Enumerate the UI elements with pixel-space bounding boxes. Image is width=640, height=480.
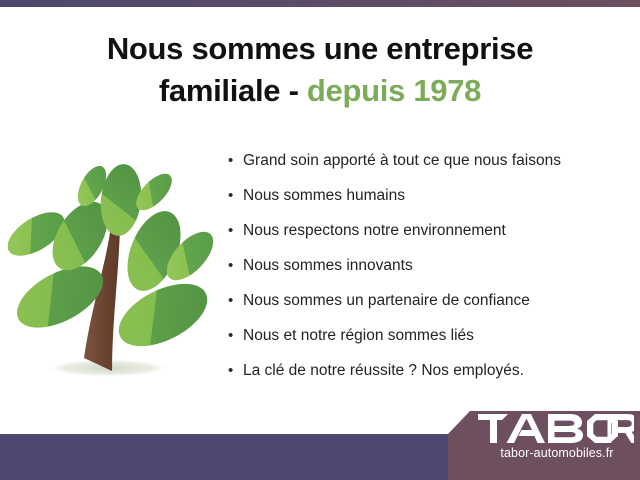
list-item-label: Nous respectons notre environnement	[243, 220, 506, 242]
title-line-2: familiale - depuis 1978	[0, 70, 640, 112]
list-item-label: Nous et notre région sommes liés	[243, 325, 474, 347]
list-item: • Nous sommes innovants	[228, 255, 628, 290]
value-bullet-list: • Grand soin apporté à tout ce que nous …	[228, 150, 628, 395]
list-item: • La clé de notre réussite ? Nos employé…	[228, 360, 628, 395]
list-item: • Nous sommes un partenaire de confiance	[228, 290, 628, 325]
bullet-point-icon: •	[228, 220, 243, 242]
list-item: • Nous sommes humains	[228, 185, 628, 220]
list-item-label: Nous sommes innovants	[243, 255, 413, 277]
bullet-point-icon: •	[228, 290, 243, 312]
list-item-label: Grand soin apporté à tout ce que nous fa…	[243, 150, 561, 172]
brand-logo[interactable]: tabor-automobiles.fr	[478, 414, 638, 470]
list-item-label: La clé de notre réussite ? Nos employés.	[243, 360, 524, 382]
brand-website-label: tabor-automobiles.fr	[478, 446, 636, 461]
title-line-2-plain: familiale -	[159, 73, 307, 108]
list-item: • Nous et notre région sommes liés	[228, 325, 628, 360]
list-item-label: Nous sommes un partenaire de confiance	[243, 290, 530, 312]
list-item: • Grand soin apporté à tout ce que nous …	[228, 150, 628, 185]
bullet-point-icon: •	[228, 255, 243, 277]
slide-canvas: Nous sommes une entreprise familiale - d…	[0, 0, 640, 480]
bullet-point-icon: •	[228, 325, 243, 347]
list-item: • Nous respectons notre environnement	[228, 220, 628, 255]
title-accent-year: depuis 1978	[307, 73, 481, 108]
top-accent-strip	[0, 0, 640, 7]
page-title: Nous sommes une entreprise familiale - d…	[0, 28, 640, 112]
bullet-point-icon: •	[228, 185, 243, 207]
bullet-point-icon: •	[228, 150, 243, 172]
tabor-wordmark-icon	[478, 414, 634, 444]
list-item-label: Nous sommes humains	[243, 185, 405, 207]
tree-icon	[8, 152, 223, 390]
bullet-point-icon: •	[228, 360, 243, 382]
title-line-1: Nous sommes une entreprise	[0, 28, 640, 70]
